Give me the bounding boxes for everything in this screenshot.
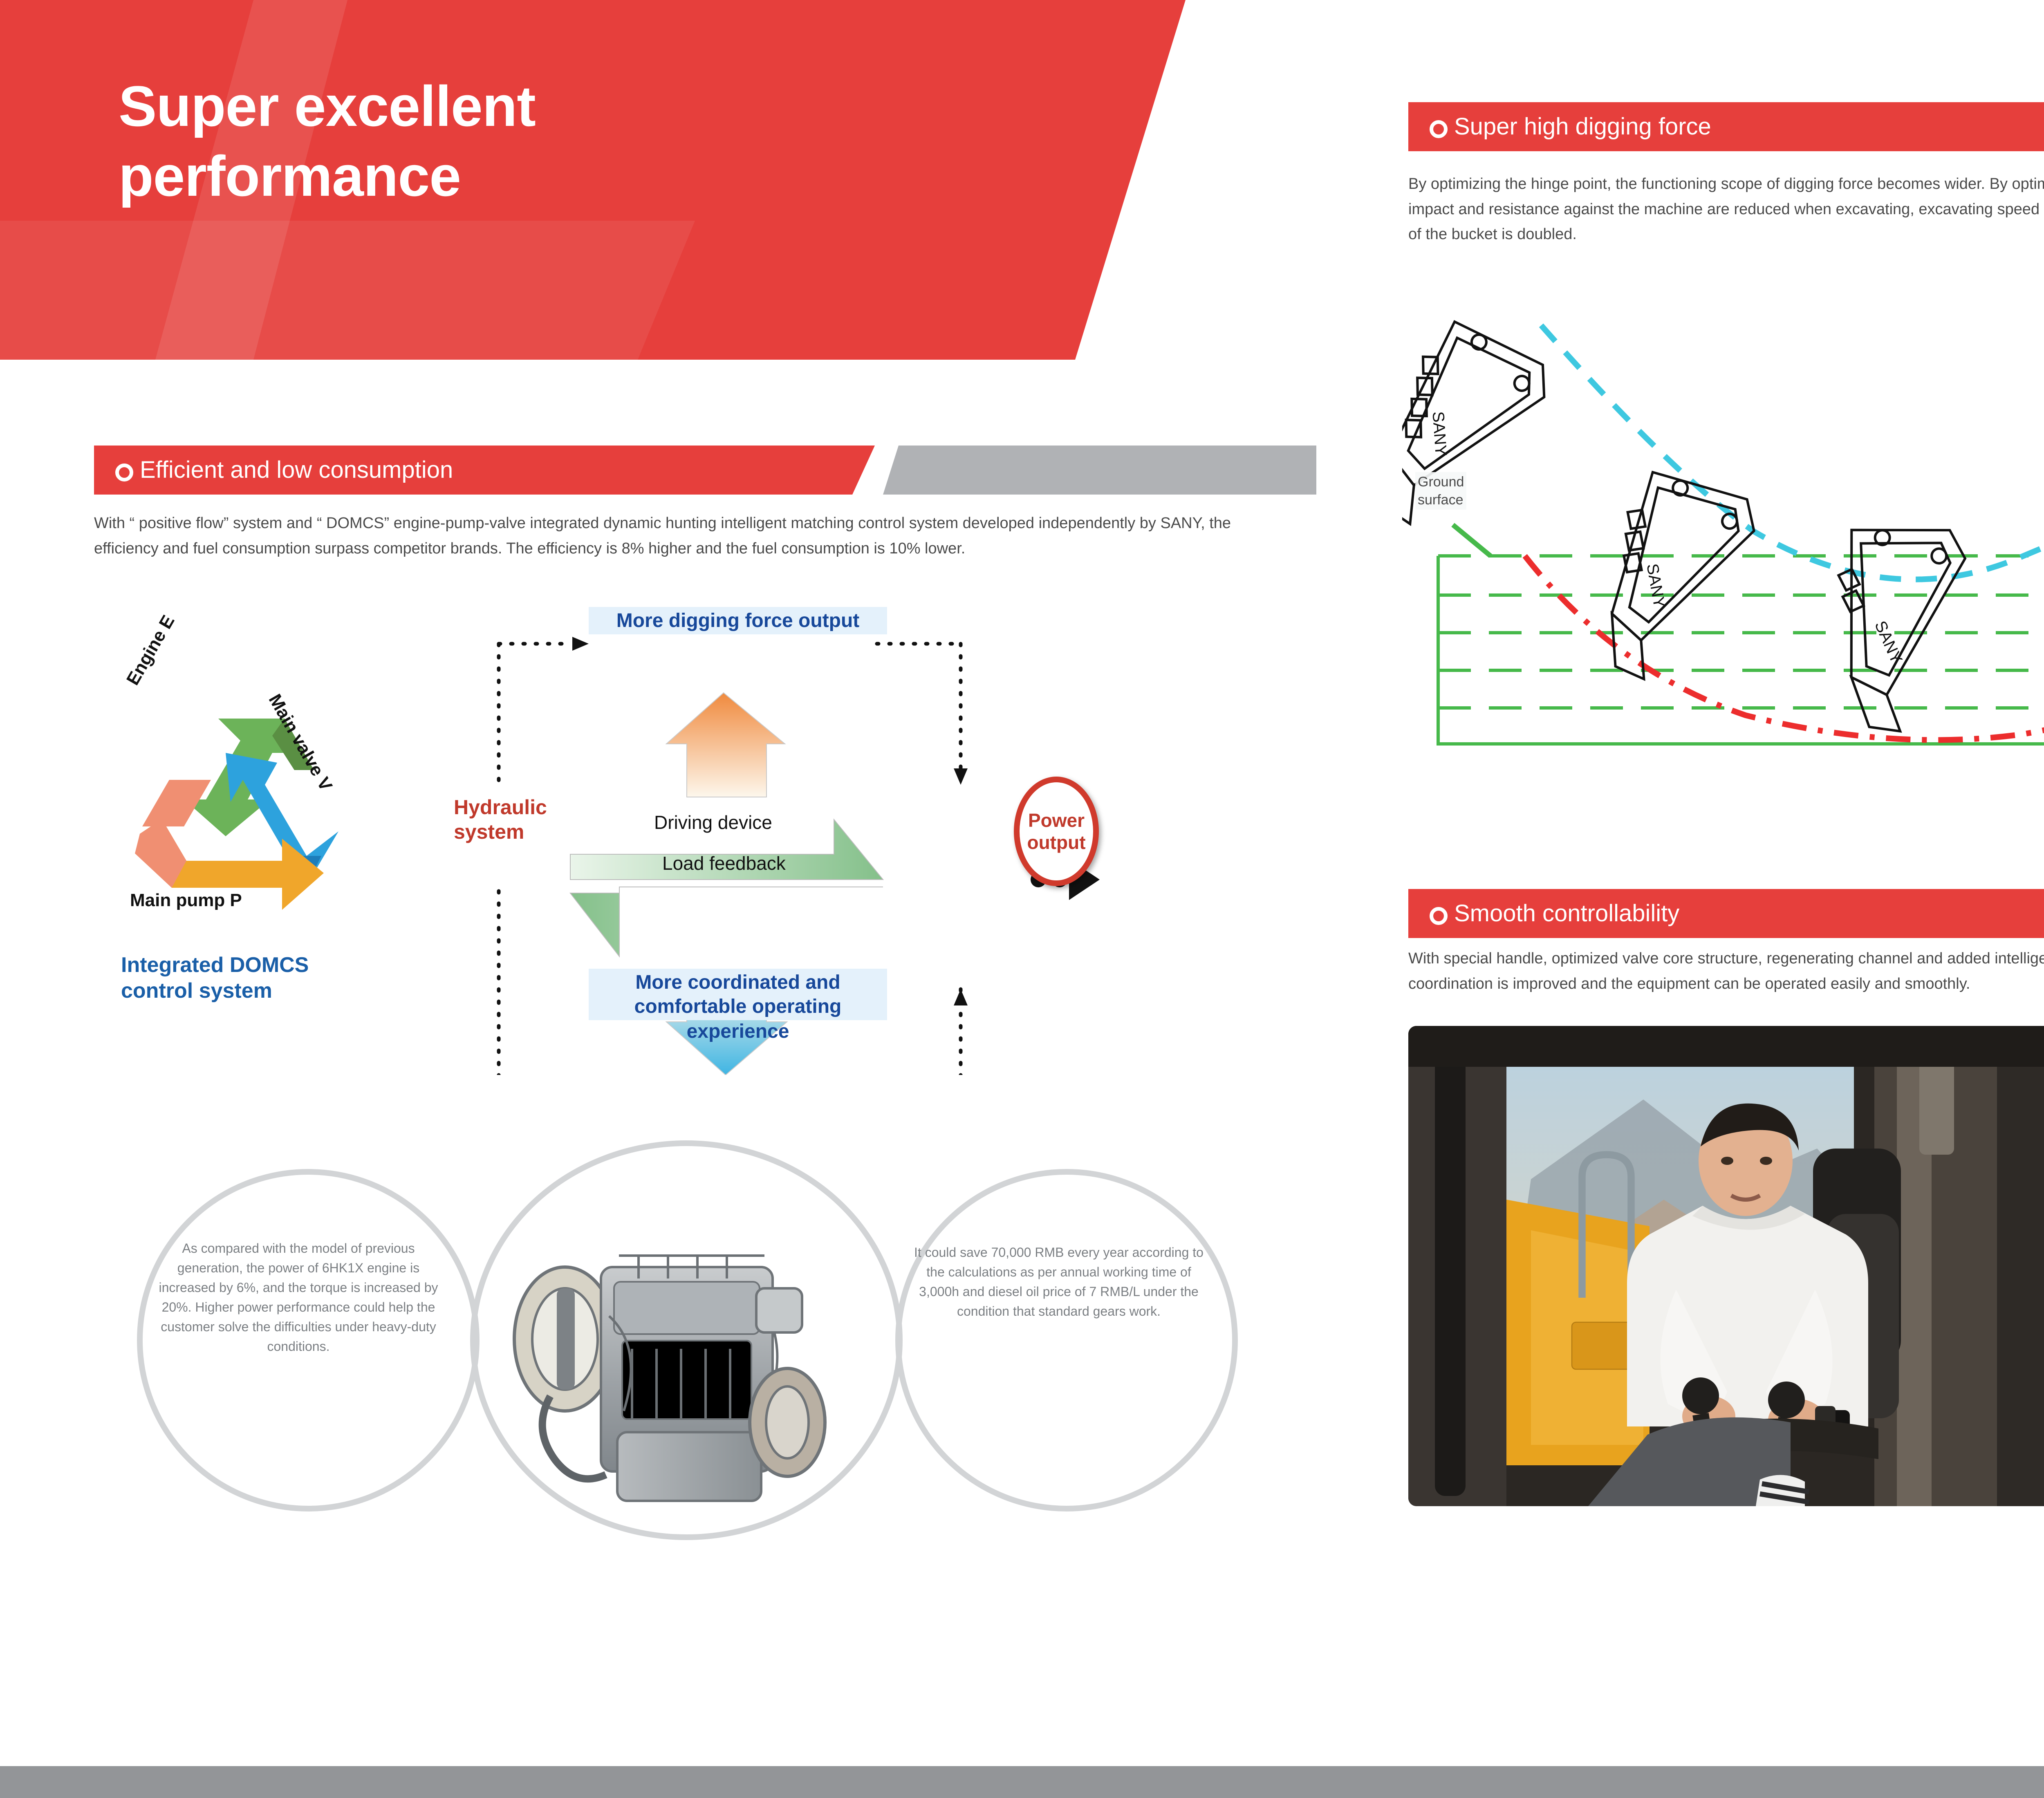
circle-left-text: As compared with the model of previous g… — [151, 1238, 446, 1356]
section-label-efficient: Efficient and low consumption — [140, 456, 453, 484]
section-header-digging: Super high digging force — [1408, 102, 2044, 151]
flow-box-comfort-line1: More coordinated and — [635, 972, 840, 993]
circle-bullet-icon — [1430, 907, 1448, 925]
circle-right-outline — [895, 1169, 1238, 1511]
flow-label-load-feedback: Load feedback — [662, 852, 786, 874]
domcs-recycle-icon — [98, 674, 392, 969]
flow-box-comfort: More coordinated and comfortable operati… — [589, 969, 887, 1020]
section-body-smooth: With special handle, optimized valve cor… — [1408, 946, 2044, 996]
flow-label-hydraulic-system: Hydraulic system — [454, 795, 547, 844]
bucket-trajectory-diagram: SANY SANY SANY — [1402, 286, 2044, 756]
power-output-line2: output — [1027, 832, 1085, 853]
domcs-caption: Integrated DOMCS control system — [121, 952, 309, 1004]
flow-box-comfort-line3: experience — [589, 1018, 887, 1045]
operator-photo — [1408, 1026, 2044, 1506]
section-label-smooth: Smooth controllability — [1454, 900, 1679, 927]
power-output-line1: Power — [1028, 810, 1085, 831]
page-title: Super excellent performance — [119, 72, 1018, 211]
svg-text:SANY: SANY — [1643, 562, 1668, 609]
hydraulic-line2: system — [454, 820, 547, 844]
domcs-caption-line2: control system — [121, 978, 309, 1004]
svg-text:SANY: SANY — [1429, 411, 1450, 457]
hydraulic-line1: Hydraulic — [454, 795, 547, 820]
section-body-digging: By optimizing the hinge point, the funct… — [1408, 172, 2044, 247]
label-ground-surface: Ground surface — [1415, 472, 1466, 510]
flow-label-driving-device: Driving device — [654, 811, 772, 833]
section-header-efficient: Efficient and low consumption — [94, 446, 1239, 495]
domcs-caption-line1: Integrated DOMCS — [121, 952, 309, 978]
domcs-label-main-pump: Main pump P — [130, 890, 242, 911]
svg-text:SANY: SANY — [1871, 618, 1906, 666]
engine-image — [486, 1218, 879, 1520]
section-header-smooth: Smooth controllability — [1408, 889, 2044, 938]
flow-node-power-output: Power output — [1014, 777, 1099, 886]
circle-bullet-icon — [1430, 120, 1448, 138]
circle-right-text: It could save 70,000 RMB every year acco… — [912, 1243, 1206, 1321]
section-body-efficient: With “ positive flow” system and “ DOMCS… — [94, 511, 1235, 561]
section-label-digging: Super high digging force — [1454, 113, 1711, 140]
section-header-grey-bar — [883, 446, 1316, 495]
footer-bar — [0, 1766, 2044, 1798]
ground-surface-line1: Ground — [1418, 474, 1464, 490]
flow-box-digging-output: More digging force output — [589, 607, 887, 634]
hero-decoration-block — [0, 221, 728, 360]
ground-surface-line2: surface — [1418, 492, 1464, 508]
page-title-line1: Super excellent — [119, 72, 1018, 141]
page-title-line2: performance — [119, 141, 1018, 211]
circle-bullet-icon — [115, 463, 133, 481]
flow-box-comfort-line2: comfortable operating — [634, 996, 842, 1017]
